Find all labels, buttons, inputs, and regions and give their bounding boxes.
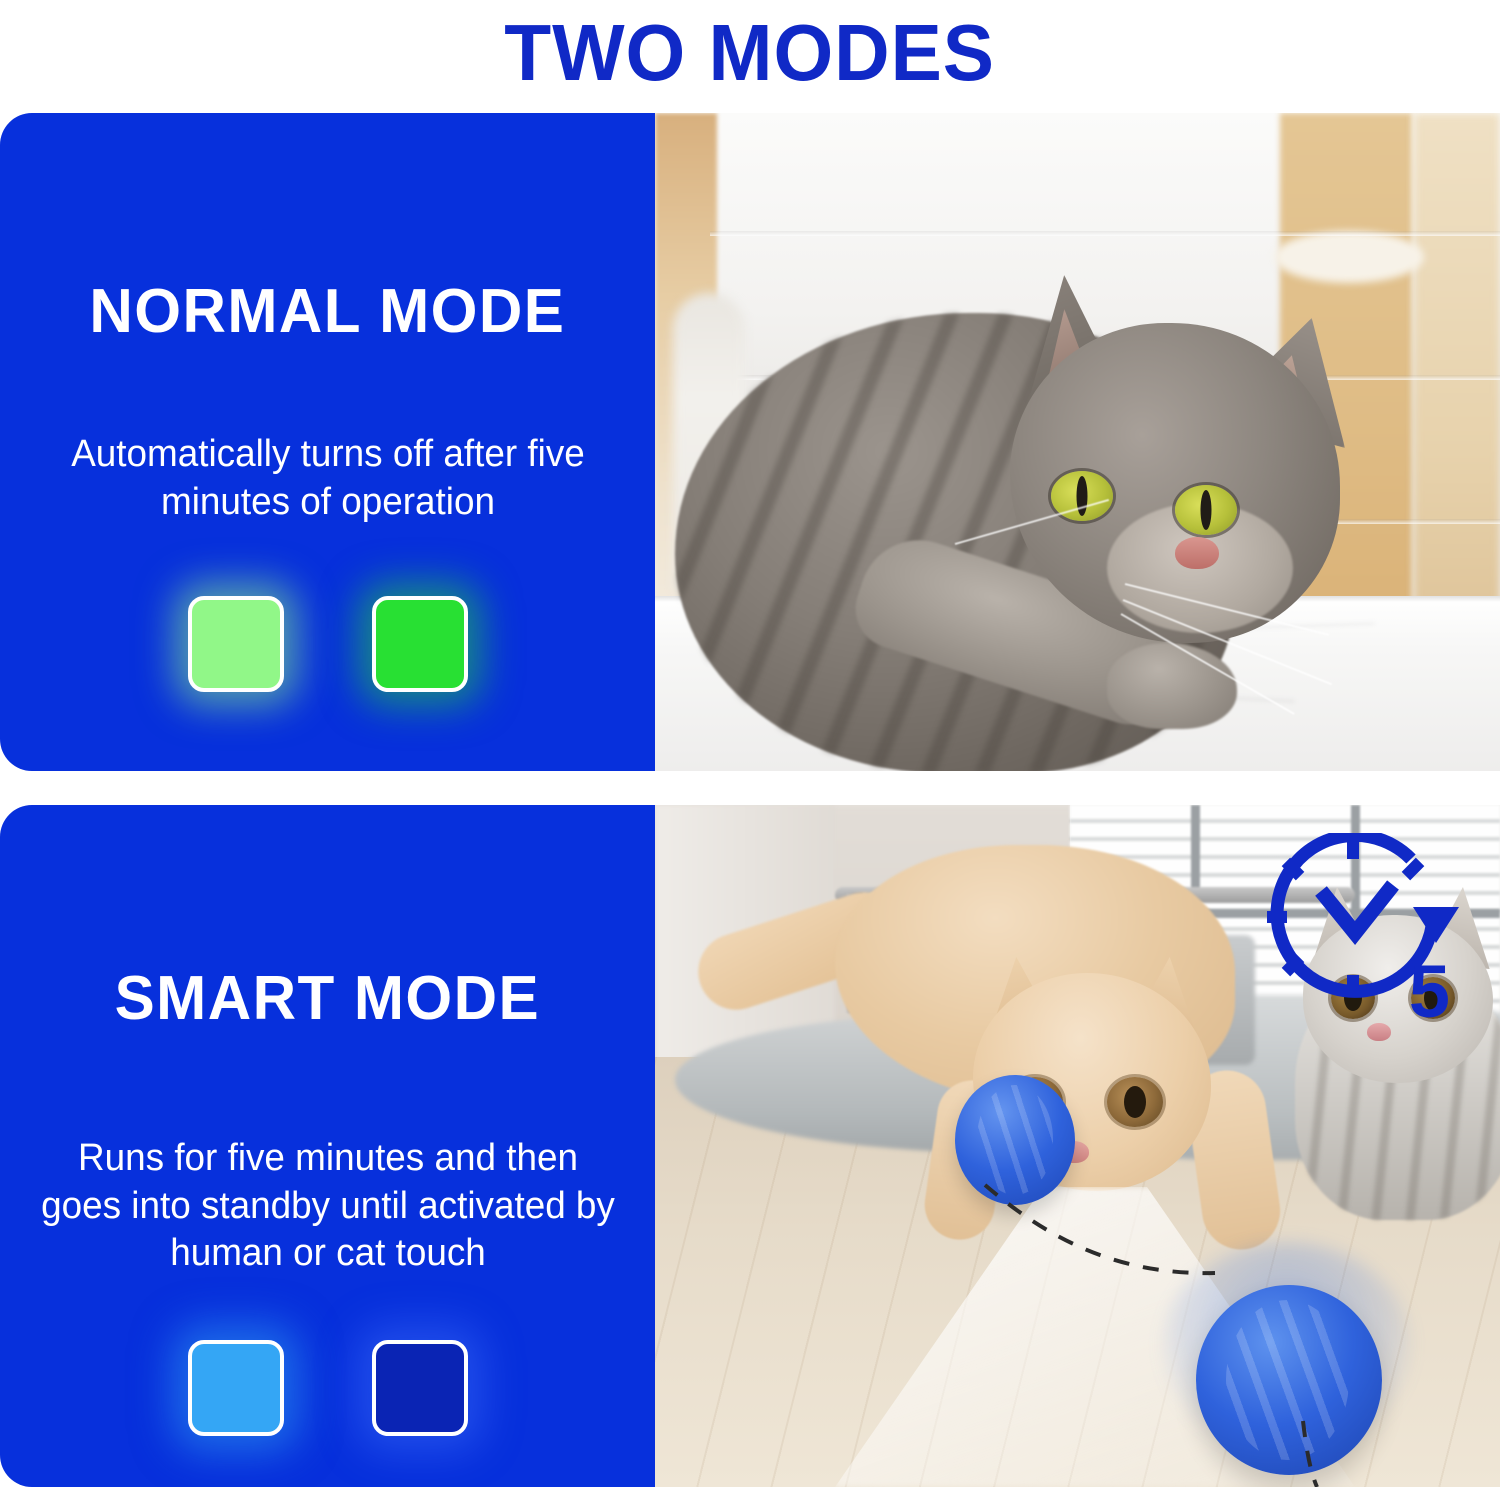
cat-nose <box>1175 537 1219 569</box>
page-title: TWO MODES <box>505 13 996 93</box>
swatch-light-green <box>188 596 284 692</box>
cat-eye-right <box>1175 485 1237 535</box>
cream-kitten-pupil <box>1124 1086 1146 1118</box>
cat-pupil <box>1201 490 1212 530</box>
cat-tree-ring <box>1274 231 1424 283</box>
page-header: TWO MODES <box>0 0 1500 106</box>
rolling-ball-toy-large <box>1196 1285 1382 1475</box>
normal-mode-info-panel: NORMAL MODE Automatically turns off afte… <box>0 113 655 771</box>
infographic-page: TWO MODES NORMAL MODE Automatically turn… <box>0 0 1500 1487</box>
section-smart-mode: SMART MODE Runs for five minutes and the… <box>0 805 1500 1487</box>
wall-seam <box>710 231 1500 236</box>
swatch-dark-blue <box>372 1340 468 1436</box>
swatch-light-blue <box>188 1340 284 1436</box>
smart-mode-title: SMART MODE <box>115 968 540 1030</box>
normal-mode-photo <box>655 113 1500 771</box>
normal-mode-title: NORMAL MODE <box>90 281 566 343</box>
swatch-bright-green <box>372 596 468 692</box>
five-minute-timer-icon: 5 <box>1263 833 1478 1033</box>
smart-mode-info-panel: SMART MODE Runs for five minutes and the… <box>0 805 655 1487</box>
section-normal-mode: NORMAL MODE Automatically turns off afte… <box>0 113 1500 771</box>
rolling-ball-toy-mid <box>955 1075 1075 1205</box>
cat-tree-post-secondary <box>1414 113 1500 673</box>
normal-mode-swatch-row <box>188 596 468 692</box>
timer-value: 5 <box>1409 955 1450 1029</box>
cat-pupil <box>1077 476 1088 516</box>
smart-mode-swatch-row <box>188 1340 468 1436</box>
smart-mode-description: Runs for five minutes and then goes into… <box>37 1135 619 1278</box>
smart-mode-photo: 5 <box>655 805 1500 1487</box>
cream-kitten-eye-right <box>1107 1077 1163 1127</box>
normal-mode-description: Automatically turns off after five minut… <box>37 431 619 526</box>
